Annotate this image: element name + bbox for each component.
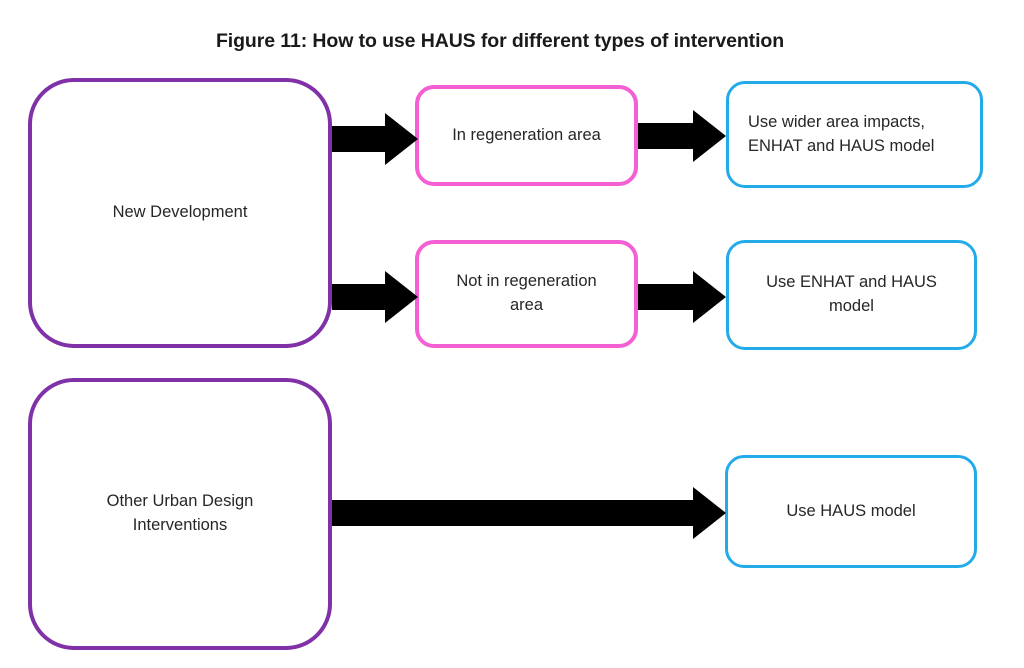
arrow-new-development-to-in-regeneration-area [332, 113, 418, 165]
arrow-in-regeneration-area-to-wider-area-enhat-haus [638, 110, 726, 162]
node-other-urban-design-label: Other Urban Design Interventions [107, 490, 254, 538]
arrow-other-urban-design-to-haus [332, 487, 726, 539]
node-other-urban-design[interactable]: Other Urban Design Interventions [28, 378, 332, 650]
node-in-regeneration-area-label: In regeneration area [452, 124, 601, 148]
node-in-regeneration-area[interactable]: In regeneration area [415, 85, 638, 186]
node-enhat-haus-label: Use ENHAT and HAUS model [766, 271, 937, 319]
node-enhat-haus[interactable]: Use ENHAT and HAUS model [726, 240, 977, 350]
node-not-in-regeneration-area[interactable]: Not in regeneration area [415, 240, 638, 348]
node-wider-area-enhat-haus[interactable]: Use wider area impacts, ENHAT and HAUS m… [726, 81, 983, 188]
node-haus[interactable]: Use HAUS model [725, 455, 977, 568]
arrow-new-development-to-not-in-regeneration-area [332, 271, 418, 323]
node-haus-label: Use HAUS model [786, 500, 915, 524]
node-wider-area-enhat-haus-label: Use wider area impacts, ENHAT and HAUS m… [729, 111, 934, 159]
node-new-development[interactable]: New Development [28, 78, 332, 348]
page-title: Figure 11: How to use HAUS for different… [0, 30, 1000, 53]
figure-canvas: Figure 11: How to use HAUS for different… [0, 0, 1024, 668]
arrow-not-in-regeneration-area-to-enhat-haus [638, 271, 726, 323]
node-new-development-label: New Development [113, 201, 248, 225]
node-not-in-regeneration-area-label: Not in regeneration area [456, 270, 596, 318]
